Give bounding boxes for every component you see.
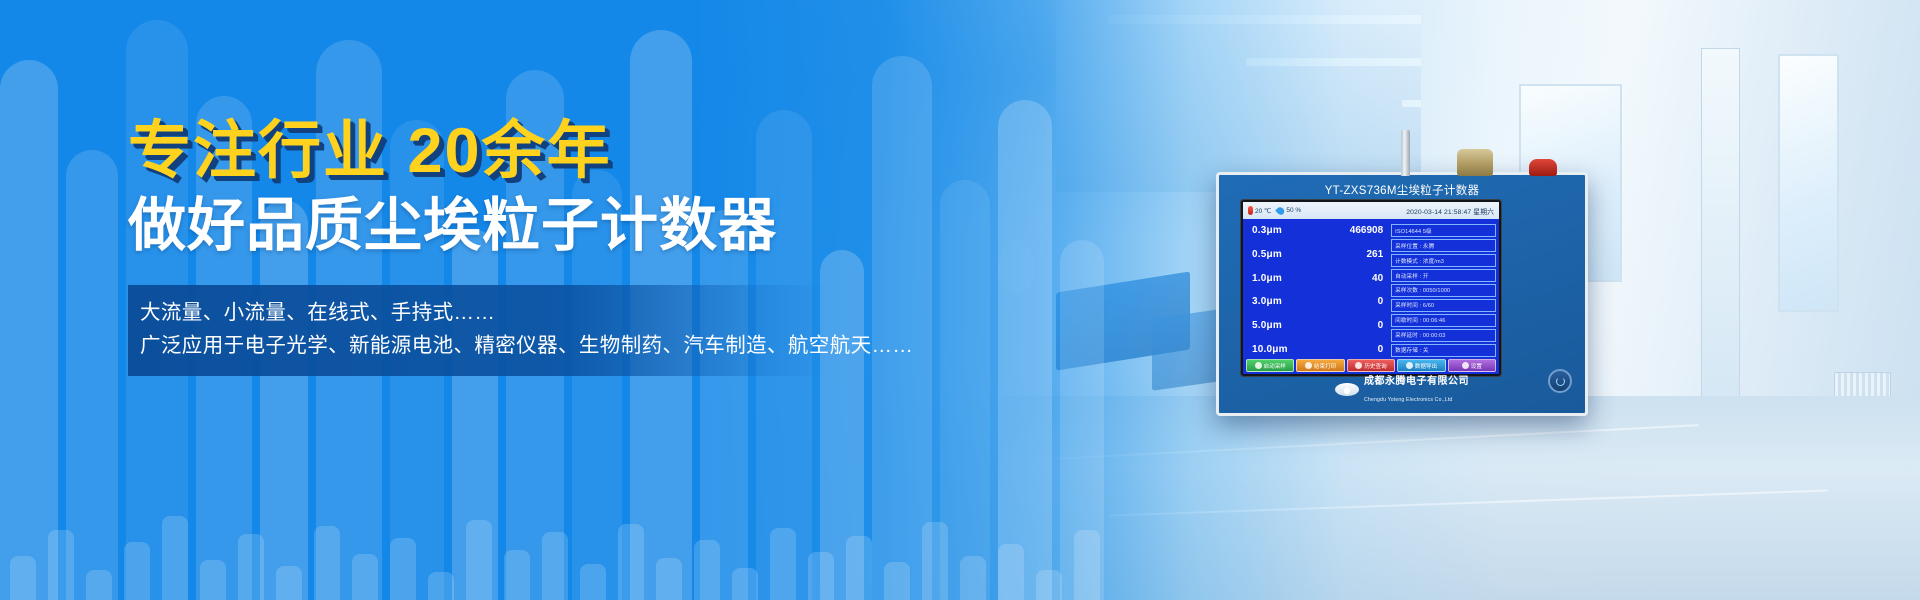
screen-status-bar: 20 ℃ 50 % 2020-03-14 21:58:47 星期六 (1243, 202, 1499, 219)
antenna (1401, 130, 1410, 176)
particle-count: 0 (1378, 344, 1387, 355)
yoteng-logo-icon (1335, 383, 1359, 396)
particle-count: 0 (1378, 320, 1387, 331)
start-sampling-label: 启动采样 (1264, 362, 1286, 370)
hero-text-block: 专注行业 20余年 做好品质尘埃粒子计数器 大流量、小流量、在线式、手持式…… … (128, 118, 888, 376)
history-query-label: 历史查询 (1364, 362, 1386, 370)
data-export-label: 数据导出 (1415, 362, 1437, 370)
temperature-indicator: 20 ℃ (1248, 206, 1271, 215)
headline-primary: 专注行业 20余年 (128, 118, 888, 184)
particle-count: 261 (1366, 249, 1386, 260)
info-row-location: 采样位置 : 永腾 (1391, 239, 1496, 252)
screen-body: 0.3μm 466908 0.5μm 261 1.0μm 40 3.0μm (1243, 219, 1499, 357)
power-button[interactable] (1548, 369, 1572, 393)
end-print-label: 结束打印 (1314, 362, 1336, 370)
particle-row: 0.3μm 466908 (1252, 225, 1386, 236)
info-row-interval-time: 间歇时间 : 00:06:46 (1391, 314, 1496, 327)
measurement-info-panel: ISO14644 5级 采样位置 : 永腾 计数模式 : 浓度/m3 自动采样 … (1391, 222, 1496, 357)
humidity-value: 50 % (1286, 207, 1301, 214)
droplet-icon (1276, 205, 1287, 216)
brand-name-cn: 成都永腾电子有限公司 (1364, 376, 1469, 387)
info-row-sample-count: 采样次数 : 0050/1000 (1391, 284, 1496, 297)
thermometer-icon (1248, 206, 1253, 215)
info-row-iso-class: ISO14644 5级 (1391, 224, 1496, 237)
history-query-button[interactable]: 历史查询 (1347, 359, 1395, 372)
datetime-value: 2020-03-14 21:58:47 星期六 (1406, 206, 1494, 216)
particle-count-list: 0.3μm 466908 0.5μm 261 1.0μm 40 3.0μm (1246, 222, 1388, 357)
alarm-beacon (1529, 159, 1557, 176)
particle-row: 3.0μm 0 (1252, 296, 1386, 307)
brand-text: 成都永腾电子有限公司 Chengdu Yoteng Electronics Co… (1364, 372, 1469, 406)
particle-size: 10.0μm (1252, 344, 1288, 355)
sampling-port-knob (1457, 149, 1493, 176)
particle-size: 0.5μm (1252, 249, 1282, 260)
subtitle-line-1: 大流量、小流量、在线式、手持式…… (140, 296, 828, 329)
power-icon (1255, 362, 1262, 369)
brand-name-en: Chengdu Yoteng Electronics Co.,Ltd (1364, 397, 1452, 403)
history-icon (1355, 362, 1362, 369)
humidity-indicator: 50 % (1277, 207, 1301, 215)
particle-count: 466908 (1350, 225, 1386, 236)
info-row-count-mode: 计数模式 : 浓度/m3 (1391, 254, 1496, 267)
particle-counter-device: YT-ZXS736M尘埃粒子计数器 20 ℃ 50 % 2020-03-14 2… (1216, 172, 1588, 416)
decorative-bottom-bars (0, 495, 1920, 600)
screen-bezel: 20 ℃ 50 % 2020-03-14 21:58:47 星期六 0.3μm … (1240, 199, 1502, 377)
particle-row: 0.5μm 261 (1252, 249, 1386, 260)
start-sampling-button[interactable]: 启动采样 (1246, 359, 1294, 372)
device-screen[interactable]: 20 ℃ 50 % 2020-03-14 21:58:47 星期六 0.3μm … (1243, 202, 1499, 374)
info-row-auto-sampling: 自动采样 : 开 (1391, 269, 1496, 282)
particle-count: 0 (1378, 296, 1387, 307)
gear-icon (1462, 362, 1469, 369)
particle-count: 40 (1372, 273, 1386, 284)
particle-size: 5.0μm (1252, 320, 1282, 331)
temperature-value: 20 ℃ (1255, 207, 1271, 215)
info-row-sample-delay: 采样延时 : 00:00:03 (1391, 329, 1496, 342)
settings-button[interactable]: 设置 (1448, 359, 1496, 372)
end-print-button[interactable]: 结束打印 (1296, 359, 1344, 372)
particle-size: 1.0μm (1252, 273, 1282, 284)
particle-row: 1.0μm 40 (1252, 273, 1386, 284)
hero-banner: 专注行业 20余年 做好品质尘埃粒子计数器 大流量、小流量、在线式、手持式…… … (0, 0, 1920, 600)
particle-size: 0.3μm (1252, 225, 1282, 236)
subtitle-line-2: 广泛应用于电子光学、新能源电池、精密仪器、生物制药、汽车制造、航空航天…… (140, 329, 828, 362)
printer-icon (1305, 362, 1312, 369)
particle-row: 5.0μm 0 (1252, 320, 1386, 331)
data-export-button[interactable]: 数据导出 (1397, 359, 1445, 372)
particle-size: 3.0μm (1252, 296, 1282, 307)
brand-logo-row: 成都永腾电子有限公司 Chengdu Yoteng Electronics Co… (1219, 372, 1585, 406)
export-icon (1406, 362, 1413, 369)
settings-label: 设置 (1471, 362, 1482, 370)
info-row-sample-time: 采样时间 : 6/60 (1391, 299, 1496, 312)
info-row-data-storage: 数据存储 : 关 (1391, 344, 1496, 357)
power-icon (1556, 377, 1565, 386)
subtitle-bar: 大流量、小流量、在线式、手持式…… 广泛应用于电子光学、新能源电池、精密仪器、生… (128, 285, 828, 375)
headline-secondary: 做好品质尘埃粒子计数器 (128, 194, 888, 259)
particle-row: 10.0μm 0 (1252, 344, 1386, 355)
device-model-title: YT-ZXS736M尘埃粒子计数器 (1219, 182, 1585, 198)
